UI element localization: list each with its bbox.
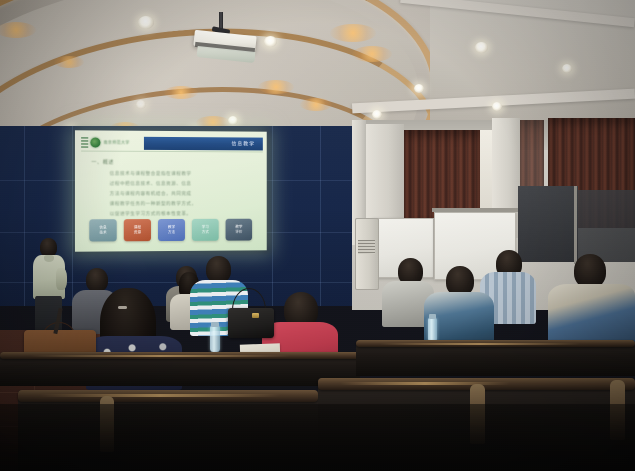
slide-box: 教学 方法 xyxy=(158,219,185,241)
black-handbag xyxy=(228,308,274,338)
seat-highlight xyxy=(380,343,580,345)
university-emblem-icon xyxy=(90,137,100,147)
slide-box-label: 教学 评价 xyxy=(235,225,242,235)
slide-body-line: 方法与课程内容有机结合，共同完成 xyxy=(110,191,192,197)
slide-box: 教学 评价 xyxy=(226,219,253,241)
cove-glow xyxy=(300,98,332,111)
cove-glow xyxy=(54,56,84,68)
dark-display-panel-right xyxy=(578,190,635,262)
attendee-torso xyxy=(548,284,635,346)
slide-title-bar: 信息教学 xyxy=(144,137,263,151)
panel-seam xyxy=(272,126,273,306)
ceiling-light xyxy=(475,42,488,53)
bag-clasp-icon xyxy=(252,313,259,318)
panel-seam xyxy=(320,126,321,306)
ceiling-light xyxy=(414,84,424,93)
slide-heading: 一、概述 xyxy=(91,159,114,166)
cove-glow xyxy=(164,86,198,99)
panel-seam xyxy=(24,126,25,306)
slide-box-label: 课程 资源 xyxy=(134,225,141,235)
water-bottle xyxy=(210,326,220,352)
dark-display-panel xyxy=(518,186,578,262)
lecture-hall-photo: 南京师范大学 信息教学 一、概述 信息技术与课程整合是指在课程教学 过程中把信息… xyxy=(0,0,635,471)
presenter-arm xyxy=(56,268,67,290)
slide-header: 南京师范大学 信息教学 xyxy=(81,136,263,150)
seat-highlight xyxy=(340,382,510,385)
seat-highlight xyxy=(40,394,280,397)
ceiling-light xyxy=(492,102,502,111)
water-bottle xyxy=(428,318,437,342)
foreground-shadow xyxy=(0,404,635,471)
attendee-head xyxy=(574,254,606,288)
wall-column-c xyxy=(366,124,404,224)
attendee-head xyxy=(206,256,231,283)
cove-glow xyxy=(258,80,294,94)
slide-box-label: 学习 方式 xyxy=(202,225,209,235)
projection-screen: 南京师范大学 信息教学 一、概述 信息技术与课程整合是指在课程教学 过程中把信息… xyxy=(75,130,267,251)
cove-glow xyxy=(330,24,376,42)
slide-box-label: 教学 方法 xyxy=(168,225,175,235)
slide-body-line: 以促进学生学习方式的根本性变革。 xyxy=(110,211,192,217)
whiteboard-frame xyxy=(432,208,520,212)
window-gap xyxy=(480,130,492,220)
bottle-cap xyxy=(429,314,436,319)
air-conditioner xyxy=(355,218,379,290)
ac-vent-grille xyxy=(358,240,375,254)
ceiling-light xyxy=(264,36,277,47)
slide-divider xyxy=(81,151,263,153)
attendee-head xyxy=(86,268,108,292)
slide-box: 信息 技术 xyxy=(89,219,116,241)
slide-body-line: 课程教学任务的一种新型的教学方式， xyxy=(110,201,197,207)
slide-box: 学习 方式 xyxy=(192,219,219,241)
ceiling-light xyxy=(228,116,238,125)
hair-clip-icon xyxy=(118,306,127,309)
presenter-collar xyxy=(44,255,54,262)
board-divider xyxy=(574,186,577,264)
slide-box: 课程 资源 xyxy=(124,219,151,241)
window-curtain-left xyxy=(404,130,480,220)
slide-logo-text: 南京师范大学 xyxy=(104,140,130,146)
slide-body-line: 过程中把信息技术、信息资源、信息 xyxy=(110,181,192,187)
ceiling-light xyxy=(562,64,572,73)
slide-title-text: 信息教学 xyxy=(231,140,255,147)
slide-logo-bars-icon xyxy=(81,137,88,148)
slide-body-line: 信息技术与课程整合是指在课程教学 xyxy=(110,171,192,177)
cove-glow xyxy=(352,46,392,62)
bottle-cap xyxy=(211,322,219,327)
ceiling-light xyxy=(136,100,146,109)
ceiling-light xyxy=(138,16,154,29)
panel-seam xyxy=(72,126,73,306)
seat-highlight xyxy=(30,355,290,357)
slide-box-label: 信息 技术 xyxy=(99,225,106,235)
ceiling-light xyxy=(372,110,382,119)
